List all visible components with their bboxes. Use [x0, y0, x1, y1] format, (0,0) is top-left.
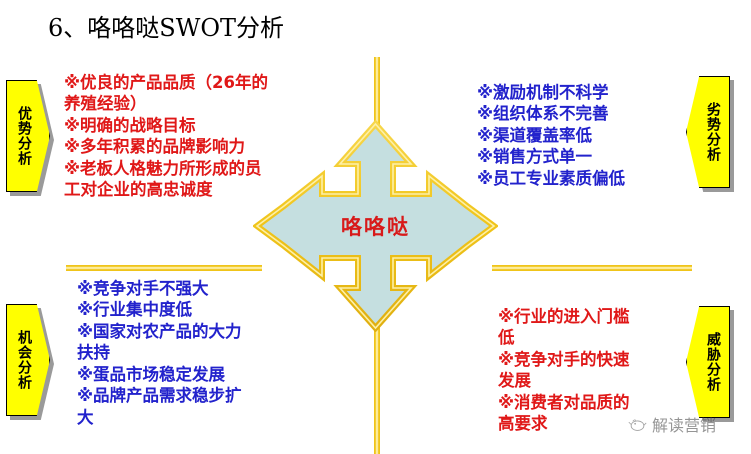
bullet-line: ※消费者对品质的 [498, 392, 693, 413]
page-title: 6、咯咯哒SWOT分析 [48, 8, 284, 43]
bullet-line: ※员工专业素质偏低 [477, 168, 692, 189]
tag-body [6, 80, 50, 192]
bullet-line: ※老板人格魅力所形成的员 [64, 158, 329, 179]
bullet-line: ※蛋品市场稳定发展 [77, 364, 292, 385]
divider-horizontal-right [492, 265, 692, 271]
bullet-line: ※竞争对手不强大 [77, 278, 292, 299]
bullet-line: ※激励机制不科学 [477, 82, 692, 103]
bullet-line: ※行业集中度低 [77, 299, 292, 320]
bullets-opportunity: ※竞争对手不强大※行业集中度低※国家对农产品的大力扶持※蛋品市场稳定发展※品牌产… [77, 278, 292, 428]
tag-strength[interactable]: 优势分析 [6, 80, 50, 192]
bullet-line: ※国家对农产品的大力 [77, 321, 292, 342]
chick-logo-icon [628, 417, 647, 432]
bullet-line: ※组织体系不完善 [477, 103, 692, 124]
bullet-line: ※多年积累的品牌影响力 [64, 136, 329, 157]
bullet-line: ※销售方式单一 [477, 146, 692, 167]
divider-horizontal-left [66, 265, 262, 271]
swot-slide: 6、咯咯哒SWOT分析 咯咯哒 优势分析 [0, 0, 751, 454]
bullet-line: ※品牌产品需求稳步扩 [77, 385, 292, 406]
bullets-strength: ※优良的产品品质（26年的养殖经验）※明确的战略目标※多年积累的品牌影响力※老板… [64, 72, 329, 201]
bullet-line: ※渠道覆盖率低 [477, 125, 692, 146]
bullet-line: 大 [77, 407, 292, 428]
tag-opportunity[interactable]: 机会分析 [6, 304, 50, 416]
bullet-line: 发展 [498, 370, 693, 391]
bullet-line: ※竞争对手的快速 [498, 349, 693, 370]
bullet-line: 养殖经验） [64, 93, 329, 114]
bullet-line: 工对企业的高忠诚度 [64, 179, 329, 200]
watermark-text: 解读营销 [652, 412, 716, 436]
bullets-weakness: ※激励机制不科学※组织体系不完善※渠道覆盖率低※销售方式单一※员工专业素质偏低 [477, 82, 692, 189]
tag-body [6, 304, 50, 416]
tag-weakness[interactable]: 劣势分析 [686, 76, 730, 188]
bullet-line: ※优良的产品品质（26年的 [64, 72, 329, 93]
bullet-line: 扶持 [77, 342, 292, 363]
bullet-line: ※行业的进入门槛 [498, 306, 693, 327]
watermark: 解读营销 [628, 412, 716, 436]
tag-body [686, 76, 730, 188]
bullet-line: 低 [498, 327, 693, 348]
bullet-line: ※明确的战略目标 [64, 115, 329, 136]
